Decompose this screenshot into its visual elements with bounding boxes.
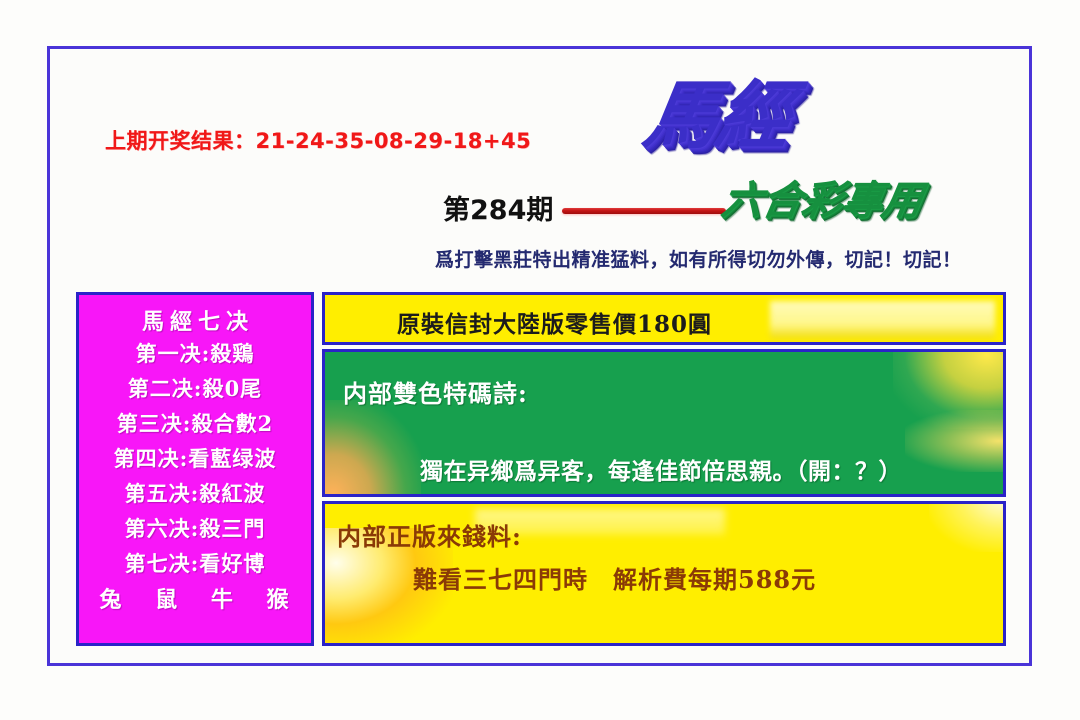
issue-number: 第284期 xyxy=(443,188,553,227)
zodiac-3: 牛 xyxy=(211,587,235,613)
decision-row-5: 第五决:殺紅波 xyxy=(79,476,311,511)
seven-decisions-title: 馬經七决 xyxy=(79,304,311,336)
zodiac-4: 猴 xyxy=(267,587,291,613)
special-code-poem-panel: 内部雙色特碼詩: 獨在异鄉爲异客，每逢佳節倍思親。（開：？） xyxy=(322,349,1006,497)
logo-main-title: 馬經 xyxy=(639,79,795,153)
content-area: 馬經七决 第一决:殺鶏 第二决:殺0尾 第三决:殺合數2 第四决:看藍绿波 第五… xyxy=(76,292,1006,646)
logo-subtitle: 六合彩專用 xyxy=(718,181,925,221)
glow-mid-right xyxy=(905,410,1006,472)
money-panel-label: 内部正版來錢料: xyxy=(337,517,522,552)
decision-row-6: 第六决:殺三門 xyxy=(79,511,311,546)
money-panel-line: 難看三七四門時 解析費每期588元 xyxy=(413,560,816,595)
red-divider-rule xyxy=(562,208,726,214)
glow-top-right-yellow xyxy=(929,501,1006,552)
redacted-area-price xyxy=(770,301,995,339)
price-banner-text: 原裝信封大陸版零售價180圓 xyxy=(397,305,712,339)
zodiac-2: 鼠 xyxy=(155,587,179,613)
seven-decisions-panel: 馬經七决 第一决:殺鶏 第二决:殺0尾 第三决:殺合數2 第四决:看藍绿波 第五… xyxy=(76,292,314,646)
decision-row-2: 第二决:殺0尾 xyxy=(79,371,311,406)
glow-bottom-left xyxy=(322,400,421,497)
last-draw-result: 上期开奖结果：21-24-35-08-29-18+45 xyxy=(105,125,531,155)
poem-panel-line: 獨在异鄉爲异客，每逢佳節倍思親。（開：？） xyxy=(420,452,902,486)
price-banner: 原裝信封大陸版零售價180圓 xyxy=(322,292,1006,345)
decision-row-1: 第一决:殺鶏 xyxy=(79,336,311,371)
decision-row-4: 第四决:看藍绿波 xyxy=(79,441,311,476)
decision-row-3: 第三决:殺合數2 xyxy=(79,406,311,441)
poster-page: 上期开奖结果：21-24-35-08-29-18+45 馬經 第284期 六合彩… xyxy=(0,0,1080,720)
money-tips-panel: 内部正版來錢料: 難看三七四門時 解析費每期588元 xyxy=(322,501,1006,646)
zodiac-1: 兔 xyxy=(99,587,123,613)
outer-frame: 上期开奖结果：21-24-35-08-29-18+45 馬經 第284期 六合彩… xyxy=(47,46,1032,666)
header: 上期开奖结果：21-24-35-08-29-18+45 馬經 第284期 六合彩… xyxy=(50,49,1029,289)
tagline-text: 爲打擊黑莊特出精准猛料，如有所得切勿外傳，切記！切記！ xyxy=(435,245,962,272)
poem-panel-label: 内部雙色特碼詩: xyxy=(343,374,528,409)
decision-row-7: 第七决:看好博 xyxy=(79,546,311,581)
right-column: 原裝信封大陸版零售價180圓 内部雙色特碼詩: 獨在异鄉爲异客，每逢佳節倍思親。… xyxy=(322,292,1006,646)
zodiac-row: 兔 鼠 牛 猴 xyxy=(79,581,311,619)
